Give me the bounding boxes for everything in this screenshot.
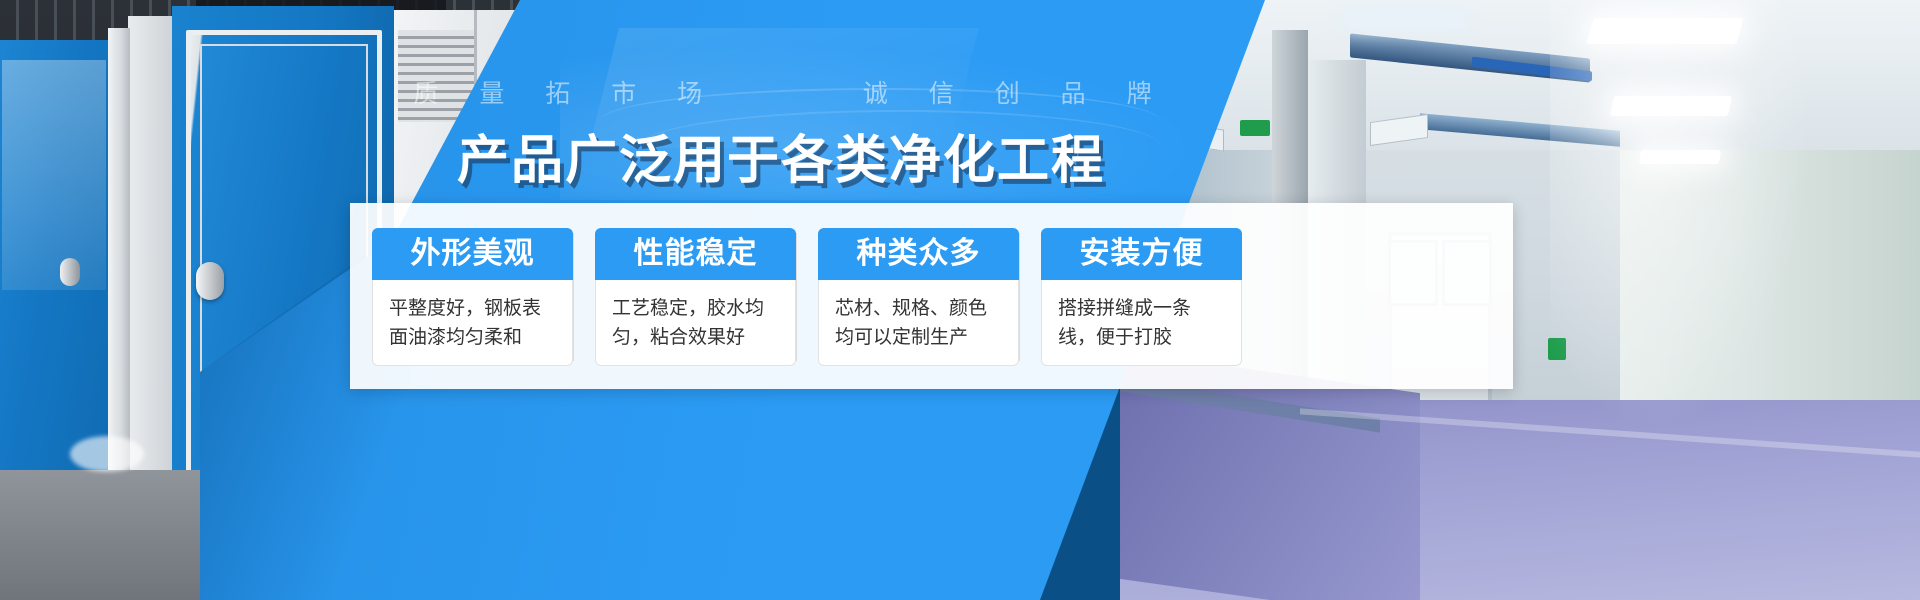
feature-card-body: 平整度好，钢板表面油漆均匀柔和 <box>372 280 573 366</box>
feature-card-body: 工艺稳定，胶水均匀，粘合效果好 <box>595 280 796 366</box>
feature-card[interactable]: 性能稳定 工艺稳定，胶水均匀，粘合效果好 <box>595 228 796 389</box>
feature-card-title: 安装方便 <box>1041 228 1242 280</box>
banner-subtitle: 质 量 拓 市 场 诚 信 创 品 牌 <box>0 74 1565 110</box>
feature-card-title: 外形美观 <box>372 228 573 280</box>
corridor-light-glow <box>1550 0 1810 430</box>
banner-headline: 产品广泛用于各类净化工程 <box>0 118 1562 193</box>
card-divider <box>1019 233 1020 361</box>
door-handle <box>196 262 224 300</box>
feature-card[interactable]: 种类众多 芯材、规格、颜色均可以定制生产 <box>818 228 1019 389</box>
ceiling-lamp <box>1343 10 1466 28</box>
feature-card-body: 芯材、规格、颜色均可以定制生产 <box>818 280 1019 366</box>
feature-card-list: 外形美观 平整度好，钢板表面油漆均匀柔和 性能稳定 工艺稳定，胶水均匀，粘合效果… <box>350 203 1513 389</box>
feature-card[interactable]: 外形美观 平整度好，钢板表面油漆均匀柔和 <box>372 228 573 389</box>
feature-card-title: 性能稳定 <box>595 228 796 280</box>
feature-card-title: 种类众多 <box>818 228 1019 280</box>
floor-puddle <box>70 436 144 472</box>
feature-card-body: 搭接拼缝成一条线，便于打胶 <box>1041 280 1242 366</box>
promo-banner: 质 量 拓 市 场 诚 信 创 品 牌 产品广泛用于各类净化工程 外形美观 平整… <box>0 0 1920 600</box>
card-divider <box>573 233 574 361</box>
door-handle-secondary <box>60 258 80 286</box>
feature-card[interactable]: 安装方便 搭接拼缝成一条线，便于打胶 <box>1041 228 1242 389</box>
card-divider <box>796 233 797 361</box>
